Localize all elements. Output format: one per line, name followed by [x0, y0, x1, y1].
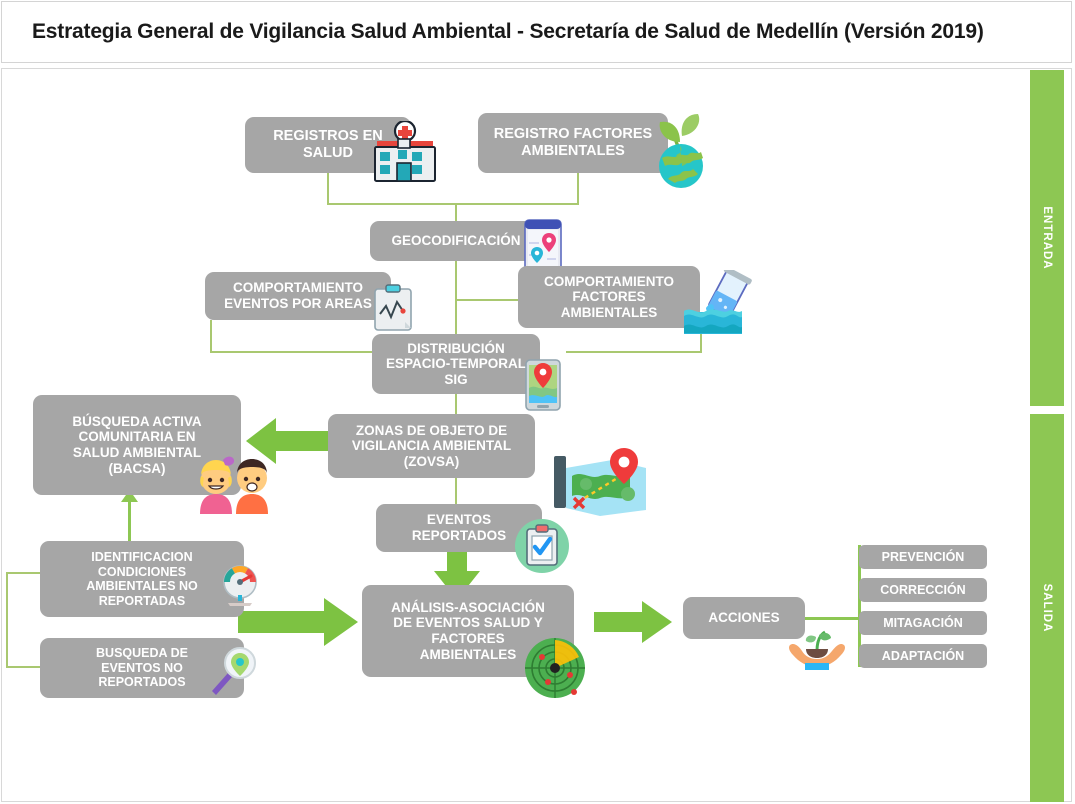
node-geocodificacion[interactable]: GEOCODIFICACIÓN [370, 221, 542, 261]
node-line: SALUD AMBIENTAL [72, 445, 201, 461]
phone-location-icon [524, 358, 562, 412]
node-comportamiento-factores[interactable]: COMPORTAMIENTO FACTORES AMBIENTALES [518, 266, 700, 328]
action-label: PREVENCIÓN [882, 550, 965, 565]
clipboard-check-icon [514, 518, 570, 574]
page-title: Estrategia General de Vigilancia Salud A… [2, 20, 984, 44]
earth-plant-icon [650, 112, 712, 190]
radar-icon [524, 637, 586, 699]
hands-plant-icon [786, 611, 848, 673]
node-line: FACTORES [391, 631, 545, 647]
rail-entrada: ENTRADA [1030, 70, 1064, 406]
connector-eventos-areas-down [210, 320, 212, 352]
node-line: COMUNITARIA EN [72, 429, 201, 445]
node-line: FACTORES [544, 289, 674, 305]
node-line: COMPORTAMIENTO [544, 274, 674, 290]
connector-distribucion-left [210, 351, 375, 353]
connector-geo-to-distribucion [455, 299, 457, 336]
rail-entrada-label: ENTRADA [1041, 206, 1053, 269]
node-line: REPORTADAS [86, 594, 198, 609]
node-line: EVENTOS NO [96, 661, 188, 676]
node-line: (BACSA) [72, 461, 201, 477]
diagram-page: Estrategia General de Vigilancia Salud A… [0, 0, 1075, 804]
node-line: EVENTOS [412, 512, 506, 528]
action-label: ADAPTACIÓN [882, 649, 964, 664]
connector-ident-vertical [6, 572, 8, 668]
node-registro-factores[interactable]: REGISTRO FACTORES AMBIENTALES [478, 113, 668, 173]
connector-top-horizontal [327, 203, 579, 205]
rail-salida: SALIDA [1030, 414, 1064, 802]
node-line: ANÁLISIS-ASOCIACIÓN [391, 600, 545, 616]
action-label: MITAGACIÓN [883, 616, 963, 631]
node-line: REPORTADOS [96, 675, 188, 690]
connector-to-zovsa [455, 394, 457, 416]
connector-factores-down [577, 172, 579, 204]
action-item-adaptacion[interactable]: ADAPTACIÓN [859, 644, 987, 668]
title-bar: Estrategia General de Vigilancia Salud A… [1, 1, 1072, 63]
gauge-icon [218, 562, 262, 606]
node-line: SIG [386, 372, 526, 388]
hospital-icon [367, 121, 443, 183]
node-line: BUSQUEDA DE [96, 646, 188, 661]
magnifier-pin-icon [208, 645, 258, 695]
node-line: CONDICIONES [86, 565, 198, 580]
node-line: (ZOVSA) [352, 454, 511, 470]
node-distribucion[interactable]: DISTRIBUCIÓN ESPACIO-TEMPORAL SIG [372, 334, 540, 394]
node-line: AMBIENTALES NO [86, 579, 198, 594]
water-test-icon [680, 270, 756, 336]
node-line: IDENTIFICACION [86, 550, 198, 565]
node-line: DISTRIBUCIÓN [386, 341, 526, 357]
node-line: AMBIENTALES [494, 143, 652, 160]
node-line: ACCIONES [708, 610, 779, 626]
connector-busqueda-left [6, 666, 41, 668]
action-item-prevencion[interactable]: PREVENCIÓN [859, 545, 987, 569]
node-line: GEOCODIFICACIÓN [391, 233, 520, 249]
node-line: REPORTADOS [412, 528, 506, 544]
node-identificacion[interactable]: IDENTIFICACION CONDICIONES AMBIENTALES N… [40, 541, 244, 617]
node-line: VIGILANCIA AMBIENTAL [352, 438, 511, 454]
rail-salida-label: SALIDA [1041, 584, 1053, 633]
connector-registros-down [327, 172, 329, 204]
node-line: EVENTOS POR AREAS [224, 296, 372, 312]
connector-geo-down [455, 261, 457, 301]
node-line: ESPACIO-TEMPORAL [386, 356, 526, 372]
node-line: AMBIENTALES [544, 305, 674, 321]
node-line: DE EVENTOS SALUD Y [391, 615, 545, 631]
node-zovsa[interactable]: ZONAS DE OBJETO DE VIGILANCIA AMBIENTAL … [328, 414, 535, 478]
clipboard-chart-icon [372, 284, 414, 332]
action-label: CORRECCIÓN [880, 583, 965, 598]
action-item-mitagacion[interactable]: MITAGACIÓN [859, 611, 987, 635]
connector-to-geocodificacion [455, 203, 457, 221]
map-pin-icon [552, 446, 648, 520]
node-line: COMPORTAMIENTO [224, 280, 372, 296]
node-line: AMBIENTALES [391, 647, 545, 663]
connector-ident-left [6, 572, 41, 574]
arrow-analisis-to-acciones [594, 601, 672, 643]
node-line: ZONAS DE OBJETO DE [352, 423, 511, 439]
node-line: REGISTRO FACTORES [494, 126, 652, 143]
node-comportamiento-eventos[interactable]: COMPORTAMIENTO EVENTOS POR AREAS [205, 272, 391, 320]
node-line: BÚSQUEDA ACTIVA [72, 414, 201, 430]
connector-zovsa-down [455, 478, 457, 505]
two-children-icon [190, 452, 278, 514]
connector-distribucion-right [566, 351, 702, 353]
connector-comportamiento-horizontal [455, 299, 525, 301]
action-item-correccion[interactable]: CORRECCIÓN [859, 578, 987, 602]
